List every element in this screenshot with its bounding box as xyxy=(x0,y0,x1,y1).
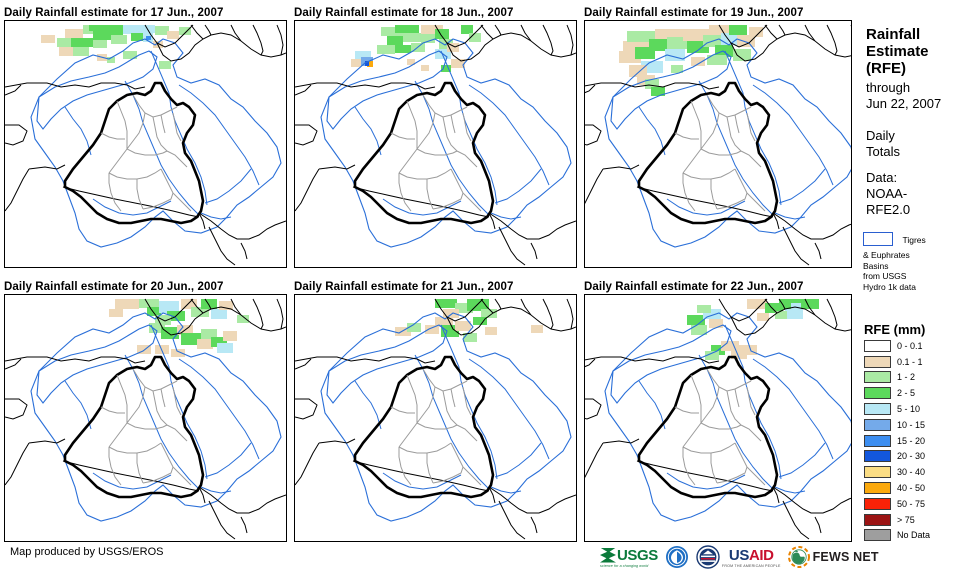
sidebar-title-line1: Rainfall xyxy=(866,26,966,43)
usgs-logo[interactable]: USGS science for a changing world xyxy=(600,547,658,568)
rfe-legend-row: 1 - 2 xyxy=(864,370,967,386)
map-svg-5 xyxy=(295,295,576,541)
fews-net-logo[interactable]: FEWS NET xyxy=(788,546,879,568)
agency-logos: USGS science for a changing world xyxy=(600,544,879,570)
map-panel-1: Daily Rainfall estimate for 17 Jun., 200… xyxy=(4,6,287,268)
basin-swatch xyxy=(863,232,893,246)
through-date: Jun 22, 2007 xyxy=(866,96,966,112)
rfe-legend-swatch xyxy=(864,419,891,431)
rfe-legend-label: 0.1 - 1 xyxy=(897,357,923,367)
sidebar-data-source: Data: NOAA- RFE2.0 xyxy=(866,170,966,218)
map-frame-3[interactable] xyxy=(584,20,852,268)
rfe-legend-label: No Data xyxy=(897,530,930,540)
map-frame-1[interactable] xyxy=(4,20,287,268)
rfe-legend-title: RFE (mm) xyxy=(864,322,925,337)
rfe-legend-row: > 75 xyxy=(864,512,967,528)
rfe-legend-label: 20 - 30 xyxy=(897,451,925,461)
map-panel-3: Daily Rainfall estimate for 19 Jun., 200… xyxy=(584,6,852,268)
map-frame-5[interactable] xyxy=(294,294,577,542)
rfe-legend-row: 5 - 10 xyxy=(864,401,967,417)
usgs-mark-icon xyxy=(600,548,616,563)
noaa-seal-icon xyxy=(665,545,689,569)
rfe-legend-swatch xyxy=(864,403,891,415)
fews-globe-icon xyxy=(788,546,810,568)
panel-title-3: Daily Rainfall estimate for 19 Jun., 200… xyxy=(584,6,852,20)
map-panel-6: Daily Rainfall estimate for 22 Jun., 200… xyxy=(584,280,852,542)
rfe-legend-swatch xyxy=(864,450,891,462)
rfe-legend-swatch xyxy=(864,529,891,541)
sidebar-title: Rainfall Estimate (RFE) xyxy=(866,26,966,77)
rfe-legend-label: 0 - 0.1 xyxy=(897,341,923,351)
data-source-line2: RFE2.0 xyxy=(866,202,966,218)
daily-line1: Daily xyxy=(866,128,966,144)
map-svg-2 xyxy=(295,21,576,267)
rfe-legend-row: 2 - 5 xyxy=(864,385,967,401)
rfe-legend-row: 15 - 20 xyxy=(864,433,967,449)
rfe-legend-row: 30 - 40 xyxy=(864,464,967,480)
usgs-tagline: science for a changing world xyxy=(600,564,648,568)
usaid-tagline: FROM THE AMERICAN PEOPLE xyxy=(722,564,781,568)
fews-net-text: FEWS NET xyxy=(813,550,879,564)
basin-label-line1: Tigres xyxy=(902,232,925,245)
rfe-legend-swatch xyxy=(864,387,891,399)
rfe-legend-swatch xyxy=(864,514,891,526)
map-svg-1 xyxy=(5,21,286,267)
rfe-legend-swatch xyxy=(864,498,891,510)
usaid-logo-text: USAID xyxy=(729,547,774,564)
data-source-line1: NOAA- xyxy=(866,186,966,202)
basin-legend: Tigres & Euphrates Basins from USGS Hydr… xyxy=(863,232,967,292)
basin-label-line2: & Euphrates xyxy=(863,250,967,261)
rfe-legend-label: 15 - 20 xyxy=(897,436,925,446)
rfe-legend-swatch xyxy=(864,435,891,447)
rfe-legend-swatch xyxy=(864,466,891,478)
panel-title-1: Daily Rainfall estimate for 17 Jun., 200… xyxy=(4,6,287,20)
rfe-legend-swatch xyxy=(864,356,891,368)
rfe-legend-label: 50 - 75 xyxy=(897,499,925,509)
panel-title-5: Daily Rainfall estimate for 21 Jun., 200… xyxy=(294,280,577,294)
rfe-legend-swatch xyxy=(864,482,891,494)
rfe-legend-label: 40 - 50 xyxy=(897,483,925,493)
rfe-legend-label: > 75 xyxy=(897,515,915,525)
data-label: Data: xyxy=(866,170,966,186)
rfe-legend-swatch xyxy=(864,340,891,352)
basin-label-line3: Basins xyxy=(863,261,967,272)
sidebar-title-line3: (RFE) xyxy=(866,60,966,77)
legend-sidebar: Rainfall Estimate (RFE) through Jun 22, … xyxy=(857,0,967,576)
rfe-legend-row: 10 - 15 xyxy=(864,417,967,433)
rfe-legend-row: 20 - 30 xyxy=(864,449,967,465)
rfe-legend-label: 2 - 5 xyxy=(897,388,915,398)
noaa-logo[interactable] xyxy=(665,545,689,569)
map-svg-4 xyxy=(5,295,286,541)
map-frame-4[interactable] xyxy=(4,294,287,542)
rfe-legend-label: 5 - 10 xyxy=(897,404,920,414)
map-panel-2: Daily Rainfall estimate for 18 Jun., 200… xyxy=(294,6,577,268)
map-frame-6[interactable] xyxy=(584,294,852,542)
rfe-legend-label: 10 - 15 xyxy=(897,420,925,430)
panel-title-6: Daily Rainfall estimate for 22 Jun., 200… xyxy=(584,280,852,294)
sidebar-title-line2: Estimate xyxy=(866,43,966,60)
map-panel-4: Daily Rainfall estimate for 20 Jun., 200… xyxy=(4,280,287,542)
basin-label-line4: from USGS xyxy=(863,271,967,282)
usaid-seal-icon xyxy=(696,545,720,569)
panel-title-2: Daily Rainfall estimate for 18 Jun., 200… xyxy=(294,6,577,20)
basin-label-line5: Hydro 1k data xyxy=(863,282,967,293)
through-label: through xyxy=(866,80,966,96)
rfe-legend-label: 30 - 40 xyxy=(897,467,925,477)
map-svg-3 xyxy=(585,21,851,267)
rfe-legend-row: 0 - 0.1 xyxy=(864,338,967,354)
sidebar-daily-totals: Daily Totals xyxy=(866,128,966,160)
rfe-legend-row: 50 - 75 xyxy=(864,496,967,512)
usgs-logo-text: USGS xyxy=(617,547,658,564)
rfe-legend-row: 0.1 - 1 xyxy=(864,354,967,370)
sidebar-through-date: through Jun 22, 2007 xyxy=(866,80,966,112)
map-frame-2[interactable] xyxy=(294,20,577,268)
map-panel-5: Daily Rainfall estimate for 21 Jun., 200… xyxy=(294,280,577,542)
rfe-legend-list: 0 - 0.10.1 - 11 - 22 - 55 - 1010 - 1515 … xyxy=(864,338,967,543)
panel-title-4: Daily Rainfall estimate for 20 Jun., 200… xyxy=(4,280,287,294)
rfe-legend-swatch xyxy=(864,371,891,383)
usaid-logo[interactable]: USAID FROM THE AMERICAN PEOPLE xyxy=(696,545,781,569)
map-svg-6 xyxy=(585,295,851,541)
rfe-legend-row: 40 - 50 xyxy=(864,480,967,496)
map-credit: Map produced by USGS/EROS xyxy=(10,546,163,558)
rfe-legend-label: 1 - 2 xyxy=(897,372,915,382)
rfe-legend-row: No Data xyxy=(864,528,967,544)
daily-line2: Totals xyxy=(866,144,966,160)
